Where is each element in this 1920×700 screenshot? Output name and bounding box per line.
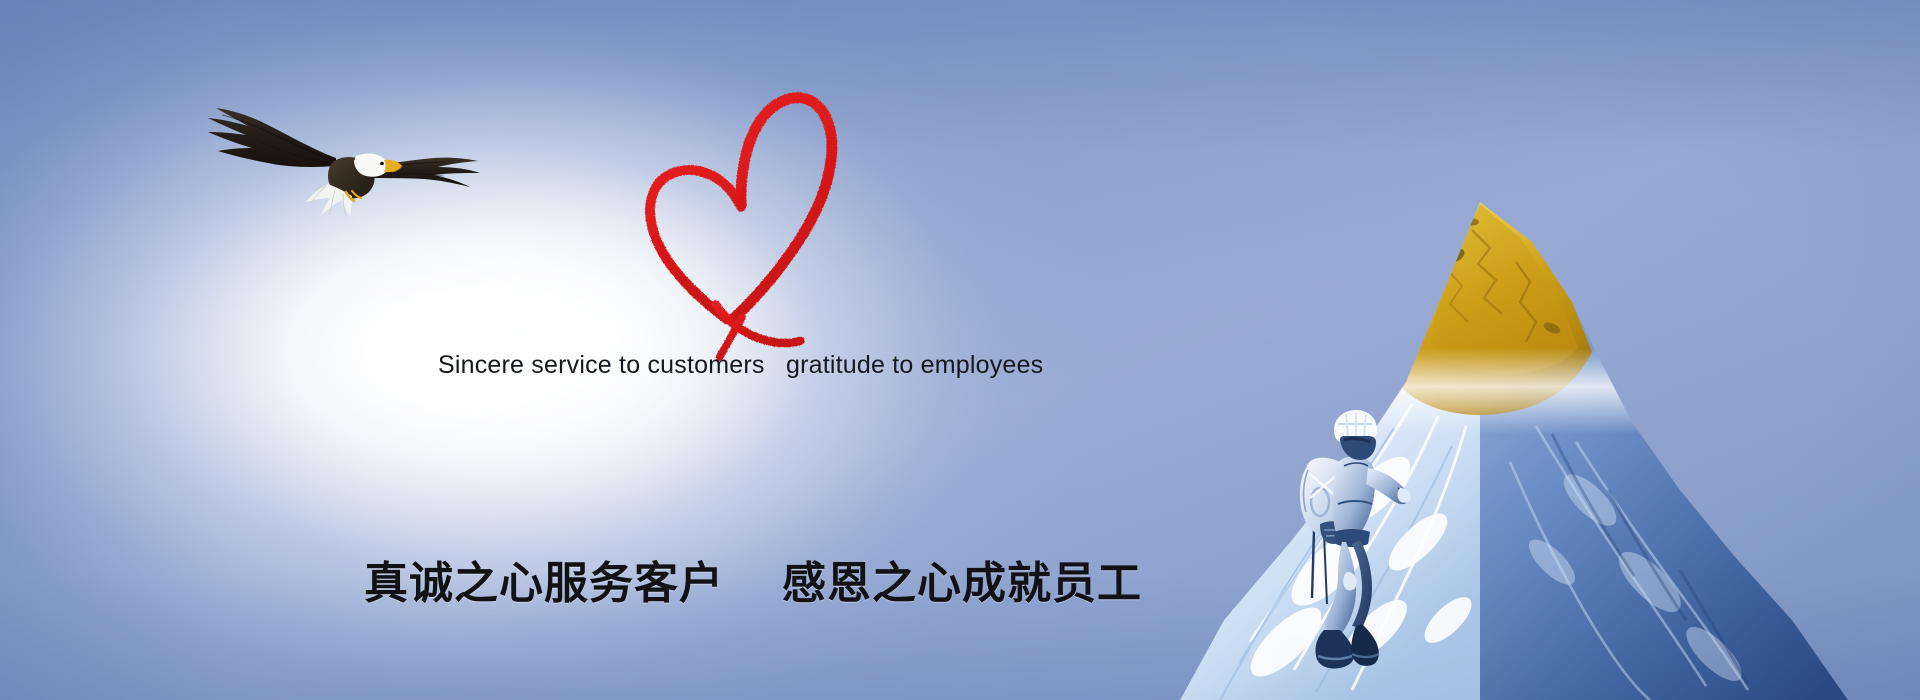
company-culture-banner: 真诚之心服务客户 感恩之心成就员工 Sincere service to cus… <box>0 0 1920 700</box>
climber-figure <box>1294 404 1414 700</box>
subtitle-english: Sincere service to customers gratitude t… <box>438 348 1043 382</box>
mountain-peak-illustration <box>1180 190 1920 700</box>
eagle-icon <box>186 88 486 218</box>
heart-icon <box>608 62 878 372</box>
